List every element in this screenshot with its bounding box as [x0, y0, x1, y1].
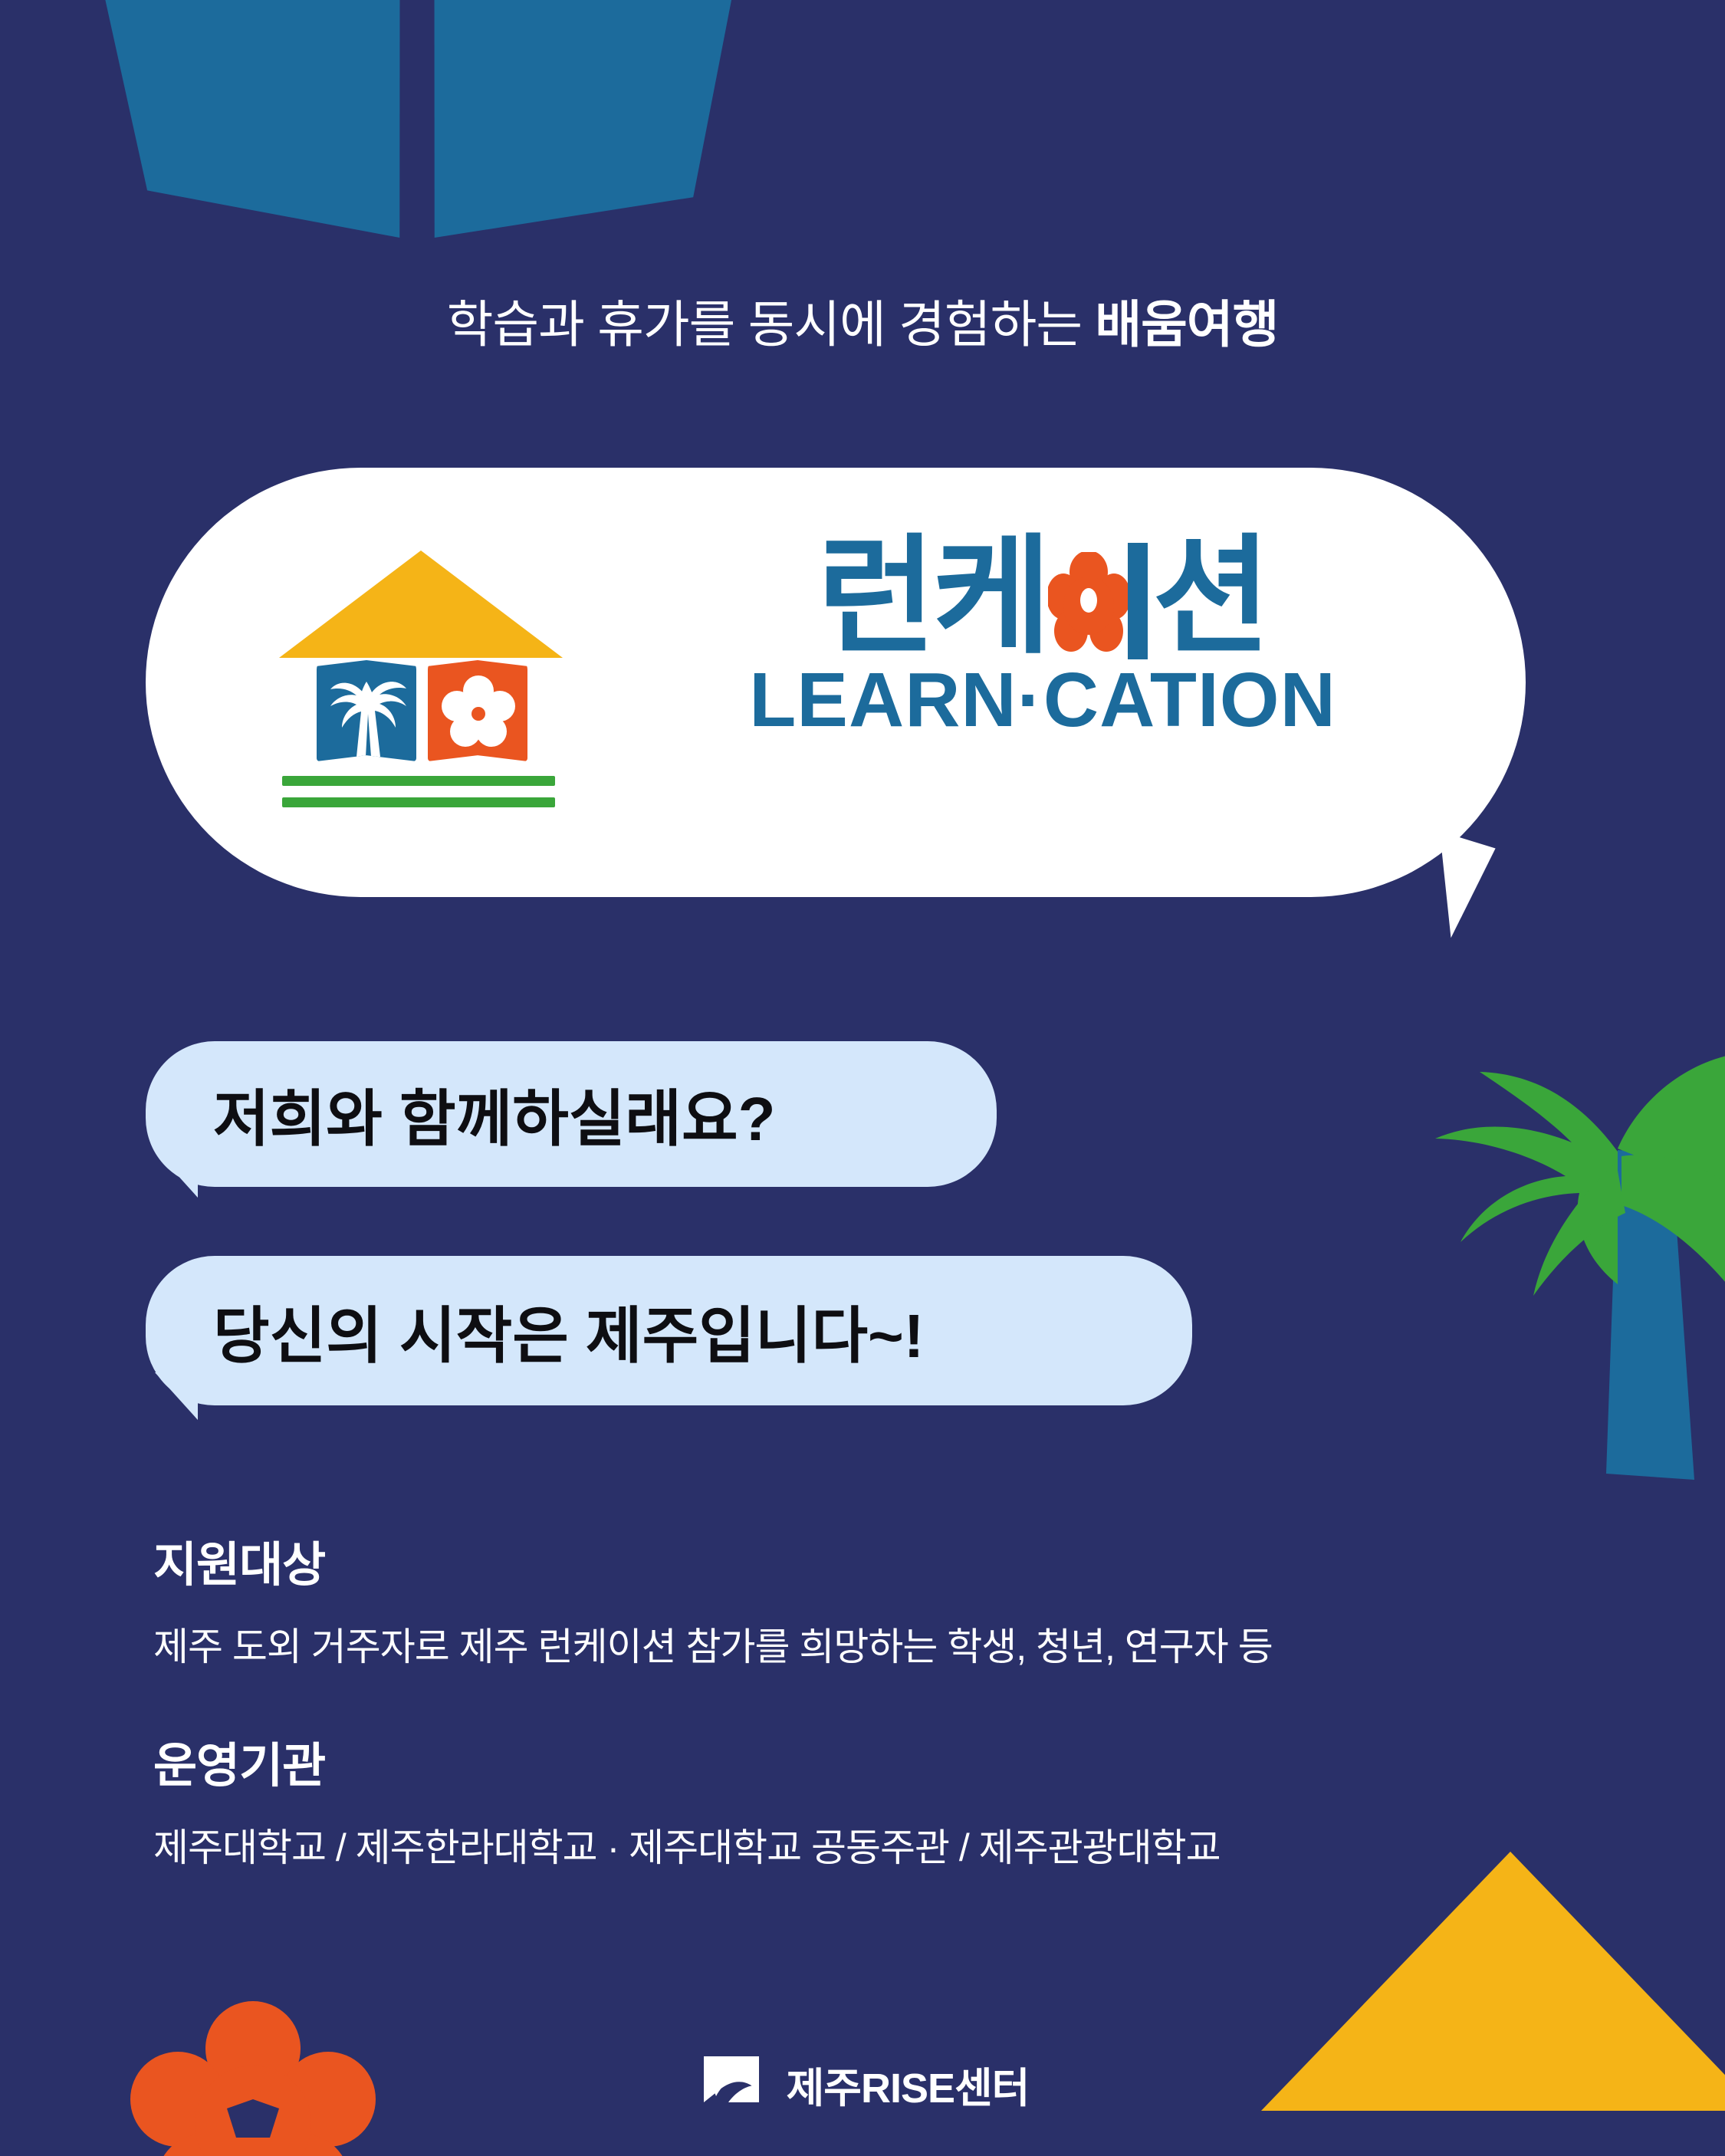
chat-bubble-2: 당신의 시작은 제주입니다~! [146, 1256, 1192, 1405]
house-panel-orange [428, 660, 527, 761]
logo-korean-text: 런케션 [629, 529, 1457, 664]
ground-line-lower [282, 797, 555, 807]
chat-bubble-1-text: 저희와 함께하실래요? [213, 1070, 776, 1159]
flower-icon [442, 672, 515, 749]
info-title-operating-org: 운영기관 [153, 1727, 1533, 1796]
footer-branding: 제주RISE센터 [0, 2049, 1725, 2119]
footer-organization-name: 제주RISE센터 [787, 2054, 1030, 2115]
logo-korean-part1: 런케 [817, 524, 1048, 669]
house-roof-shape [279, 551, 563, 658]
book-page-left [71, 0, 413, 238]
logo-korean-part2: 션 [1152, 524, 1268, 669]
info-block-operating-org: 운영기관 제주대학교 / 제주한라대학교 · 제주대학교 공동주관 / 제주관광… [153, 1727, 1533, 1872]
info-section: 지원대상 제주 도외 거주자로 제주 런케이션 참가를 희망하는 학생, 청년,… [153, 1526, 1533, 1872]
info-block-support-target: 지원대상 제주 도외 거주자로 제주 런케이션 참가를 희망하는 학생, 청년,… [153, 1526, 1533, 1671]
logo-speech-bubble-tail [1440, 826, 1504, 938]
book-page-right [422, 0, 764, 238]
open-book-icon [46, 0, 751, 253]
chat-bubble-2-text: 당신의 시작은 제주입니다~! [213, 1287, 924, 1375]
logo-flower-stem [1128, 543, 1148, 659]
poster-canvas: 학습과 휴가를 동시에 경험하는 배움여행 [0, 0, 1725, 2156]
headline-bold-text: 배움여행 [1095, 296, 1278, 353]
logo-english-text: LEARN·CATION [629, 656, 1457, 744]
page-headline: 학습과 휴가를 동시에 경험하는 배움여행 [0, 284, 1725, 357]
info-body-support-target: 제주 도외 거주자로 제주 런케이션 참가를 희망하는 학생, 청년, 연구자 … [153, 1616, 1533, 1671]
info-title-support-target: 지원대상 [153, 1526, 1533, 1595]
ground-line-upper [282, 776, 555, 786]
logo-flower-icon [1048, 552, 1129, 652]
palm-tree-icon [326, 671, 407, 757]
logo-wordmark: 런케션 LEARN·CATION [629, 529, 1457, 744]
headline-normal-text: 학습과 휴가를 동시에 경험하는 [447, 296, 1096, 353]
jeju-rise-center-logo-icon [696, 2049, 767, 2119]
chat-bubble-2-tail [155, 1372, 198, 1420]
chat-bubble-1-tail [155, 1150, 198, 1198]
learncation-house-icon [268, 551, 575, 850]
house-panel-blue [317, 660, 416, 761]
chat-bubble-1: 저희와 함께하실래요? [146, 1041, 997, 1187]
